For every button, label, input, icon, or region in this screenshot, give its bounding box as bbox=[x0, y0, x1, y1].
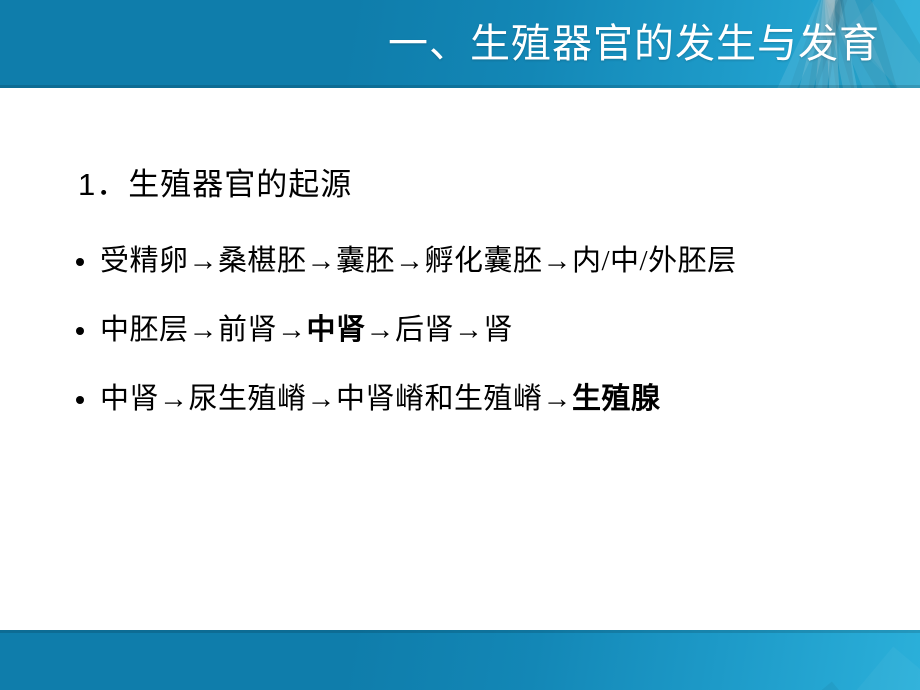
bullet-list: 受精卵→桑椹胚→囊胚→孵化囊胚→内/中/外胚层 中胚层→前肾→中肾→后肾→肾 中… bbox=[64, 238, 894, 423]
bullet-dot-icon bbox=[76, 258, 84, 266]
emphasised-term: 生殖腺 bbox=[572, 383, 661, 415]
bullet-text: 中肾→尿生殖嵴→中肾嵴和生殖嵴→生殖腺 bbox=[100, 383, 661, 415]
body-heading: 1．生殖器官的起源 bbox=[78, 166, 352, 205]
plain-run: 受精卵→桑椹胚→囊胚→孵化囊胚→内/中/外胚层 bbox=[100, 245, 737, 277]
slide-title: 一、生殖器官的发生与发育 bbox=[0, 0, 880, 88]
bullet-dot-icon bbox=[76, 396, 84, 404]
bullet-text: 受精卵→桑椹胚→囊胚→孵化囊胚→内/中/外胚层 bbox=[100, 245, 737, 277]
list-item: 中肾→尿生殖嵴→中肾嵴和生殖嵴→生殖腺 bbox=[64, 376, 894, 423]
plain-run: 中肾→尿生殖嵴→中肾嵴和生殖嵴→ bbox=[100, 383, 572, 415]
plain-run: →后肾→肾 bbox=[366, 314, 514, 346]
ray-sliver bbox=[797, 647, 920, 690]
bullet-dot-icon bbox=[76, 327, 84, 335]
plain-run: 中胚层→前肾→ bbox=[100, 314, 307, 346]
emphasised-term: 中肾 bbox=[307, 314, 366, 346]
slide-body: 1．生殖器官的起源 受精卵→桑椹胚→囊胚→孵化囊胚→内/中/外胚层 中胚层→前肾… bbox=[0, 88, 920, 630]
list-item: 中胚层→前肾→中肾→后肾→肾 bbox=[64, 307, 894, 354]
presentation-slide: 一、生殖器官的发生与发育 1．生殖器官的起源 受精卵→桑椹胚→囊胚→孵化囊胚→内… bbox=[0, 0, 920, 690]
footer-band bbox=[0, 630, 920, 690]
list-item: 受精卵→桑椹胚→囊胚→孵化囊胚→内/中/外胚层 bbox=[64, 238, 894, 285]
bullet-text: 中胚层→前肾→中肾→后肾→肾 bbox=[100, 314, 513, 346]
